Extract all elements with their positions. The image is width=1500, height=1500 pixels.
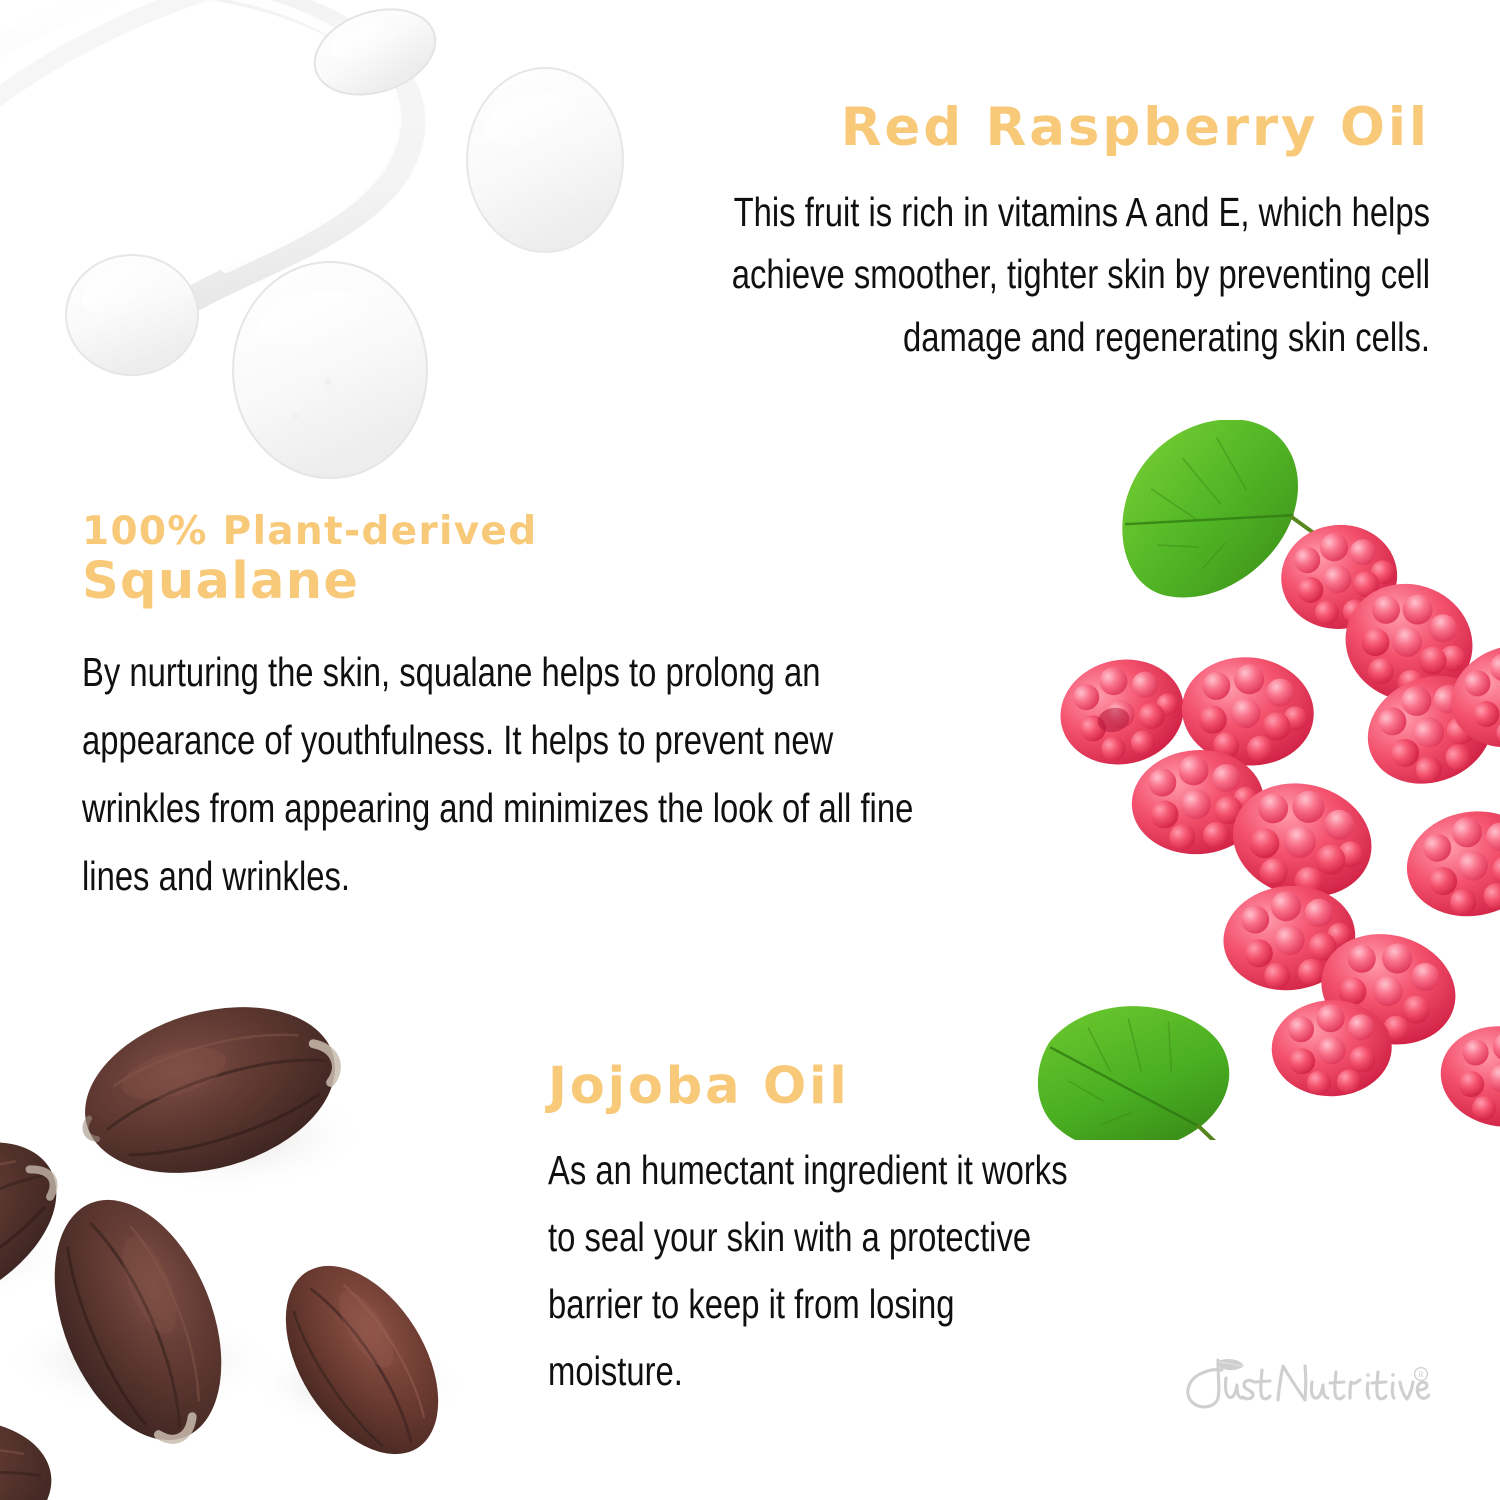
- heading-red-raspberry-oil: Red Raspberry Oil: [640, 100, 1430, 155]
- section-jojoba-oil: Jojoba Oil As an humectant ingredient it…: [548, 1060, 1108, 1404]
- body-red-raspberry-oil: This fruit is rich in vitamins A and E, …: [640, 181, 1430, 368]
- jojoba-seed: [22, 1175, 254, 1464]
- body-squalane: By nurturing the skin, squalane helps to…: [82, 638, 954, 910]
- jojoba-seed: [0, 1405, 61, 1500]
- jojoba-seed: [0, 1107, 86, 1350]
- raspberry-berries: [1051, 519, 1500, 1134]
- jojoba-seeds-image: [0, 930, 510, 1500]
- heading-squalane-line1: 100% Plant-derived: [82, 512, 962, 553]
- ingredient-infographic-poster: Red Raspberry Oil This fruit is rich in …: [0, 0, 1500, 1500]
- justnutritive-logo: R: [1178, 1352, 1430, 1414]
- red-raspberry-cluster-image: [1030, 420, 1500, 1140]
- raspberry-leaf-top: [1100, 420, 1327, 611]
- clear-gel-droplets-image: [0, 0, 700, 500]
- section-red-raspberry-oil: Red Raspberry Oil This fruit is rich in …: [640, 100, 1430, 368]
- svg-text:R: R: [1418, 1370, 1424, 1379]
- heading-jojoba-oil: Jojoba Oil: [548, 1060, 1108, 1113]
- heading-squalane-line2: Squalane: [82, 555, 962, 608]
- jojoba-seed: [254, 1239, 469, 1481]
- heading-squalane: 100% Plant-derived Squalane: [82, 512, 962, 608]
- section-squalane: 100% Plant-derived Squalane By nurturing…: [82, 512, 962, 910]
- jojoba-seed: [63, 980, 355, 1201]
- body-jojoba-oil: As an humectant ingredient it works to s…: [548, 1137, 1078, 1404]
- registered-trademark-icon: R: [1415, 1368, 1428, 1381]
